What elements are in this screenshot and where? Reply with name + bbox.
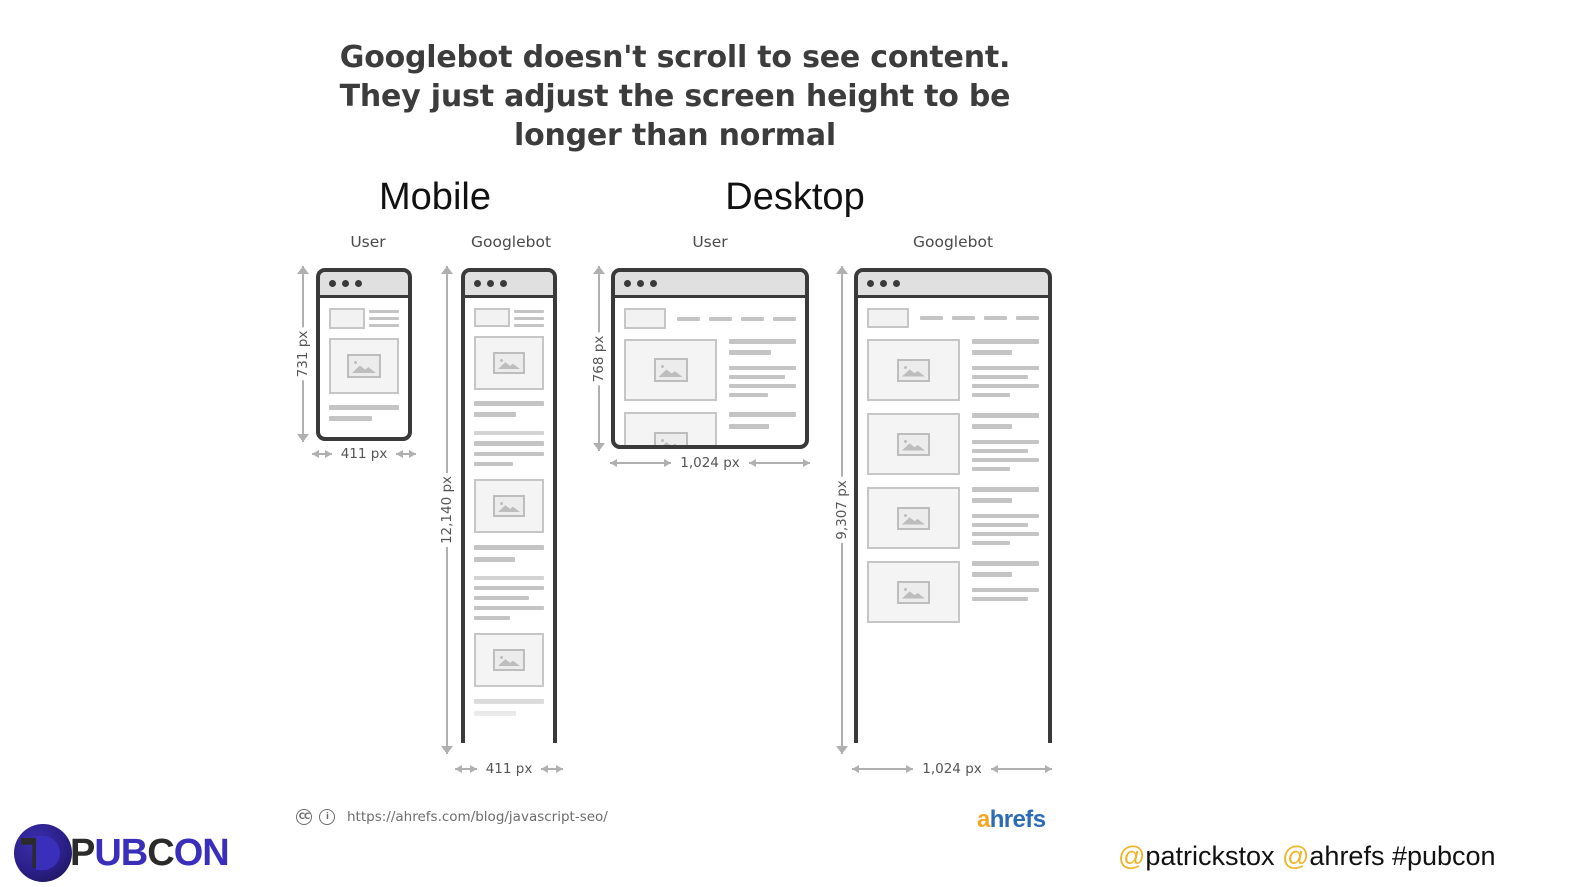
image-card (867, 339, 960, 401)
nav-link (773, 317, 796, 321)
social-handles: @patrickstox @ahrefs #pubcon (1118, 841, 1496, 872)
dimension-width-desktop-googlebot: 1,024 px (852, 760, 1052, 778)
logo-placeholder (867, 308, 909, 328)
text-line (329, 405, 399, 410)
text-line (474, 711, 516, 716)
text-line (474, 401, 544, 406)
text-line (474, 739, 544, 743)
nav-links (920, 316, 1039, 320)
content-row (867, 487, 1039, 549)
text-line (972, 532, 1039, 536)
image-placeholder-icon (897, 581, 930, 604)
mockup-titlebar (615, 272, 805, 298)
text-block (972, 413, 1039, 475)
ahrefs-logo-accent: a (977, 806, 990, 833)
mockup-page-content (858, 298, 1048, 633)
text-line (972, 541, 1010, 545)
at-symbol-icon: @ (1282, 841, 1309, 871)
image-card (867, 487, 960, 549)
text-line (474, 699, 544, 704)
title-line-3: longer than normal (290, 116, 1060, 155)
text-line (972, 366, 1039, 370)
mockup-header-row (329, 308, 399, 329)
mockup-page-content (615, 298, 805, 449)
dimension-width-mobile-user: 411 px (312, 445, 416, 463)
image-card (474, 479, 544, 533)
text-line (972, 561, 1039, 566)
text-line (474, 606, 544, 610)
dimension-height-mobile-googlebot: 12,140 px (438, 266, 456, 754)
text-line (972, 424, 1012, 429)
text-line (474, 616, 510, 620)
image-placeholder-icon (347, 354, 381, 378)
dimension-arrow-left (852, 768, 913, 770)
image-card (624, 339, 717, 401)
ahrefs-logo: ahrefs (977, 806, 1045, 834)
text-line (972, 597, 1028, 601)
text-line (474, 441, 544, 446)
title-line-2: They just adjust the screen height to be (290, 77, 1060, 116)
text-line (474, 462, 513, 466)
dimension-width-desktop-user: 1,024 px (610, 454, 810, 472)
pubcon-word-c: C (147, 832, 173, 874)
window-dot-icon (329, 280, 336, 287)
mockup-titlebar (858, 272, 1048, 298)
text-line (474, 452, 544, 456)
window-dot-icon (474, 280, 481, 287)
dimension-width-label: 1,024 px (919, 761, 985, 777)
window-dot-icon (867, 280, 874, 287)
mockup-titlebar (320, 272, 408, 298)
mockup-titlebar (465, 272, 553, 298)
dimension-arrow-left (610, 462, 671, 464)
text-line (729, 424, 769, 429)
image-placeholder-icon (897, 433, 930, 456)
text-line (972, 339, 1039, 344)
window-dot-icon (342, 280, 349, 287)
logo-placeholder (624, 308, 666, 329)
mockup-header-row (624, 308, 796, 329)
column-label-mobile-googlebot: Googlebot (448, 233, 574, 251)
arrow-up-icon (593, 266, 605, 274)
nav-link (952, 316, 975, 320)
dimension-height-desktop-user: 768 px (590, 266, 608, 451)
arrow-down-icon (836, 746, 848, 754)
image-card (624, 412, 717, 449)
handle-patrickstox: patrickstox (1145, 841, 1274, 871)
mockup-page-content (465, 298, 553, 743)
image-placeholder-icon (493, 649, 525, 671)
dimension-width-label: 411 px (483, 761, 536, 777)
content-row (867, 339, 1039, 401)
image-card (474, 633, 544, 687)
image-placeholder-icon (897, 359, 930, 382)
nav-link (709, 317, 732, 321)
nav-link (984, 316, 1007, 320)
text-line (972, 487, 1039, 492)
window-dot-icon (624, 280, 631, 287)
mockup-header-row (867, 308, 1039, 328)
text-line (972, 588, 1039, 592)
text-line (729, 393, 768, 397)
text-line (474, 729, 544, 733)
dimension-height-label: 731 px (290, 328, 316, 381)
text-line (972, 449, 1028, 453)
text-line (972, 467, 1010, 471)
text-line (972, 514, 1039, 518)
attribution-icon: i (319, 809, 335, 825)
dimension-arrow-left (312, 453, 332, 455)
logo-placeholder (474, 308, 510, 327)
column-label-desktop-user: User (650, 233, 770, 251)
text-line (972, 572, 1012, 577)
attribution: CC i https://ahrefs.com/blog/javascript-… (296, 809, 608, 825)
dimension-arrow-right (991, 768, 1052, 770)
content-row (867, 561, 1039, 623)
text-line (972, 350, 1012, 355)
at-symbol-icon: @ (1118, 841, 1145, 871)
slide-canvas: Googlebot doesn't scroll to see content.… (0, 0, 1580, 887)
hamburger-icon (369, 308, 399, 327)
text-line (474, 545, 544, 550)
nav-link (741, 317, 764, 321)
image-placeholder-icon (493, 495, 525, 517)
text-block (729, 412, 796, 449)
text-line (972, 393, 1010, 397)
dimension-height-label: 12,140 px (434, 473, 460, 547)
arrow-up-icon (836, 266, 848, 274)
mockup-header-row (474, 308, 544, 327)
column-label-desktop-googlebot: Googlebot (890, 233, 1016, 251)
pubcon-word-p: P (70, 832, 94, 874)
nav-link (677, 317, 700, 321)
pubcon-wordmark: PUBCON (70, 832, 229, 875)
column-label-mobile-user: User (308, 233, 428, 251)
truncation-fade (858, 683, 1048, 743)
page-title: Googlebot doesn't scroll to see content.… (290, 38, 1060, 155)
dimension-width-label: 411 px (338, 446, 391, 462)
text-line (729, 412, 796, 417)
text-line (729, 366, 796, 370)
window-dot-icon (650, 280, 657, 287)
window-dot-icon (500, 280, 507, 287)
ahrefs-logo-text: hrefs (990, 806, 1046, 833)
text-block (729, 339, 796, 401)
text-line (474, 586, 544, 590)
hamburger-icon (514, 308, 544, 327)
window-dot-icon (487, 280, 494, 287)
dimension-height-label: 9,307 px (829, 477, 855, 543)
nav-link (1016, 316, 1039, 320)
dimension-height-desktop-googlebot: 9,307 px (833, 266, 851, 754)
text-line (729, 375, 785, 379)
text-line (474, 596, 529, 600)
browser-mockup-mobile-googlebot (461, 268, 557, 743)
mockup-page-content (320, 298, 408, 431)
window-dot-icon (355, 280, 362, 287)
text-line (972, 498, 1012, 503)
text-line (474, 557, 515, 562)
text-line (972, 440, 1039, 444)
source-url[interactable]: https://ahrefs.com/blog/javascript-seo/ (347, 809, 608, 825)
image-card (474, 336, 544, 390)
image-placeholder-icon (897, 507, 930, 530)
image-placeholder-icon (654, 358, 688, 382)
handle-ahrefs: ahrefs (1309, 841, 1384, 871)
content-row (624, 412, 796, 449)
text-line (729, 384, 796, 388)
dimension-arrow-right (749, 462, 810, 464)
text-block (972, 339, 1039, 401)
text-line (972, 384, 1039, 388)
content-row (867, 413, 1039, 475)
text-line (972, 523, 1028, 527)
title-line-1: Googlebot doesn't scroll to see content. (290, 38, 1060, 77)
dimension-arrow-left (455, 768, 477, 770)
text-line (474, 412, 516, 417)
section-heading-desktop: Desktop (670, 176, 920, 219)
browser-mockup-desktop-user (611, 268, 809, 449)
window-dot-icon (637, 280, 644, 287)
hashtag-pubcon: #pubcon (1392, 841, 1496, 871)
window-dot-icon (893, 280, 900, 287)
image-placeholder-icon (654, 432, 688, 449)
pubcon-word-ub: UB (94, 832, 147, 874)
text-line (972, 375, 1028, 379)
content-row (624, 339, 796, 401)
dimension-height-mobile-user: 731 px (294, 266, 312, 442)
text-line (729, 339, 796, 344)
window-dot-icon (880, 280, 887, 287)
text-line (474, 576, 544, 580)
dimension-height-label: 768 px (586, 332, 612, 385)
dimension-arrow-right (396, 453, 416, 455)
pubcon-logo: PUBCON (14, 824, 229, 882)
nav-link (920, 316, 943, 320)
text-block (972, 561, 1039, 623)
arrow-down-icon (593, 443, 605, 451)
image-placeholder-icon (493, 352, 525, 374)
pubcon-word-on: ON (174, 832, 229, 874)
image-card (329, 338, 399, 394)
arrow-down-icon (297, 434, 309, 442)
dimension-width-label: 1,024 px (677, 455, 743, 471)
dimension-width-mobile-googlebot: 411 px (455, 760, 563, 778)
text-line (329, 416, 372, 421)
text-block (972, 487, 1039, 549)
pubcon-emblem-icon (14, 824, 72, 882)
arrow-down-icon (441, 746, 453, 754)
image-card (867, 561, 960, 623)
browser-mockup-desktop-googlebot (854, 268, 1052, 743)
text-line (729, 350, 771, 355)
nav-links (677, 317, 796, 321)
arrow-up-icon (441, 266, 453, 274)
logo-placeholder (329, 308, 365, 329)
arrow-up-icon (297, 266, 309, 274)
dimension-arrow-right (541, 768, 563, 770)
text-line (474, 431, 544, 435)
browser-mockup-mobile-user (316, 268, 412, 441)
image-card (867, 413, 960, 475)
text-line (972, 413, 1039, 418)
text-line (972, 458, 1039, 462)
section-heading-mobile: Mobile (310, 176, 560, 219)
cc-icon: CC (296, 809, 312, 825)
